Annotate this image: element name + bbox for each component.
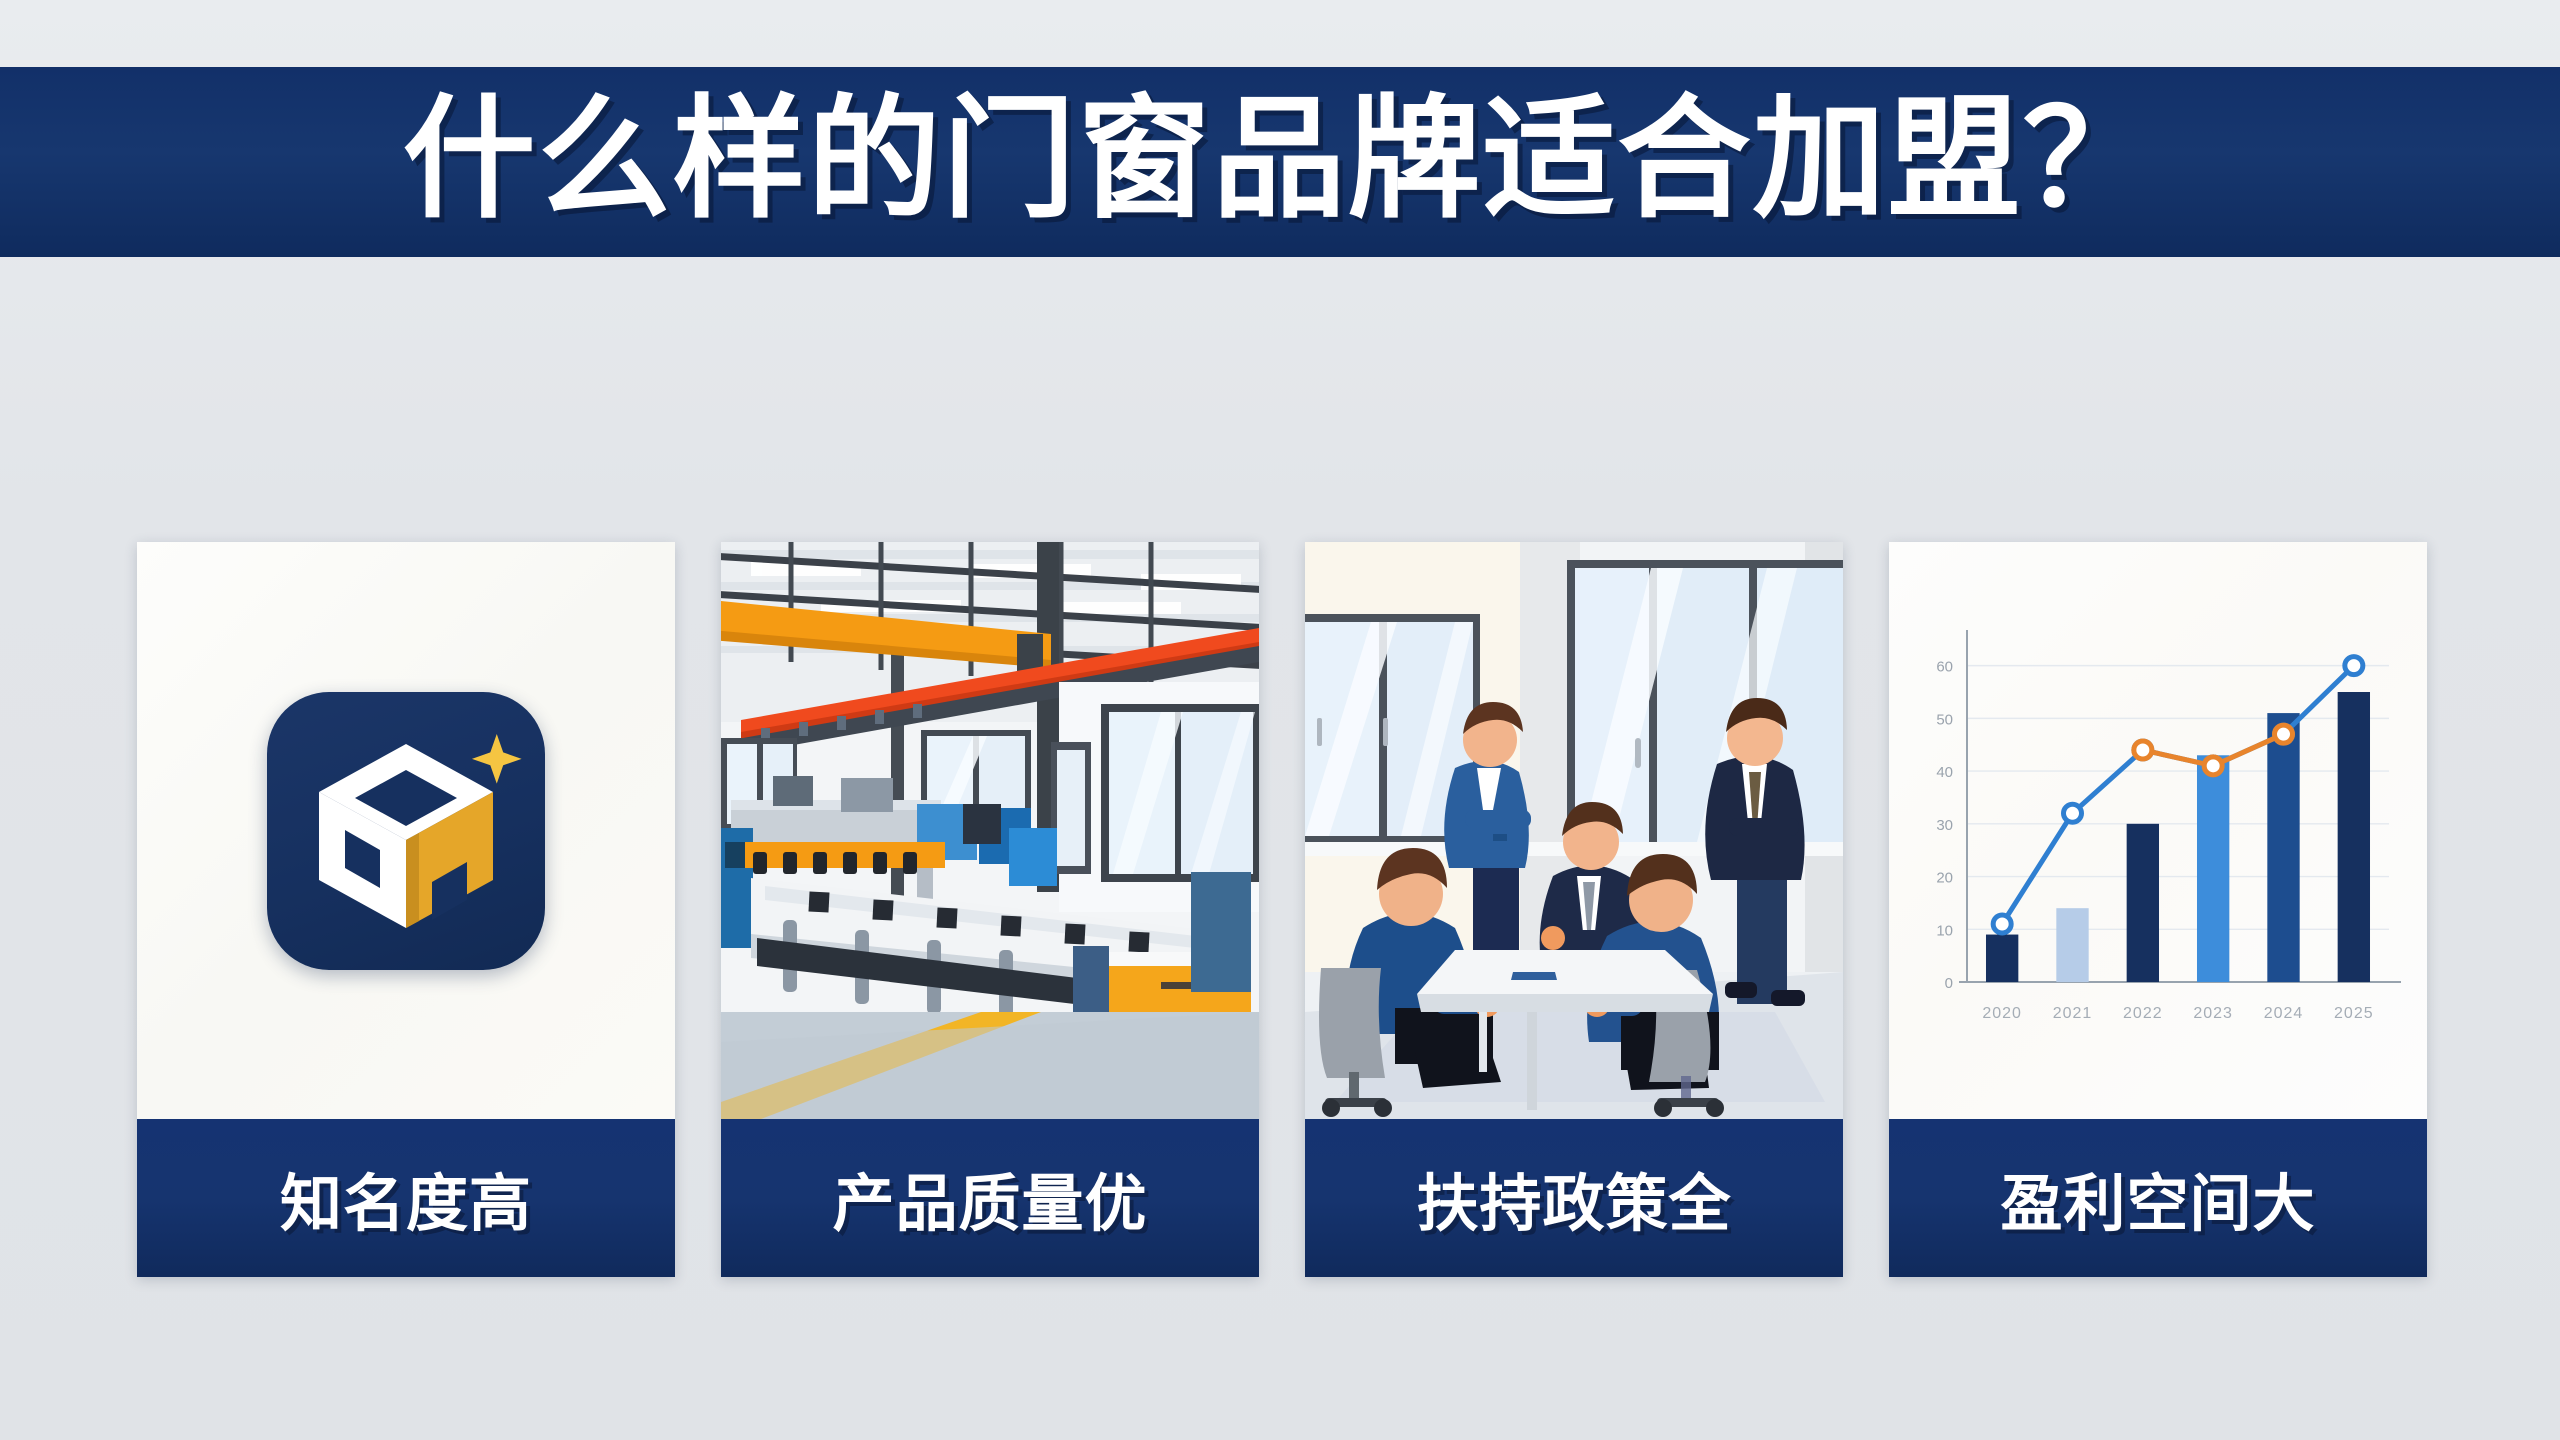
brand-cube-logo-icon bbox=[267, 692, 545, 970]
logo-stage bbox=[137, 542, 675, 1119]
chart-bar bbox=[1986, 935, 2018, 982]
chart-x-tick: 2025 bbox=[2334, 1005, 2374, 1022]
card-media-chart: 0102030405060202020212022202320242025 bbox=[1889, 542, 2427, 1119]
feature-card-row: 知名度高 bbox=[137, 542, 2427, 1277]
chart-marker bbox=[1993, 915, 2011, 933]
chart-bar bbox=[2267, 713, 2299, 982]
chart-marker bbox=[2134, 741, 2152, 759]
poster-root: 什么样的门窗品牌适合加盟？ bbox=[0, 0, 2560, 1440]
chart-bar bbox=[2338, 692, 2370, 982]
chart-x-tick: 2021 bbox=[2053, 1005, 2093, 1022]
chart-y-tick: 40 bbox=[1936, 764, 1953, 781]
card-media-meeting bbox=[1305, 542, 1843, 1119]
growth-chart: 0102030405060202020212022202320242025 bbox=[1889, 542, 2427, 1119]
feature-card-brand-awareness[interactable]: 知名度高 bbox=[137, 542, 675, 1277]
chart-bar bbox=[2197, 755, 2229, 982]
factory-illustration bbox=[721, 542, 1259, 1119]
card-media-brand-logo bbox=[137, 542, 675, 1119]
chart-stage: 0102030405060202020212022202320242025 bbox=[1889, 542, 2427, 1119]
chart-bar bbox=[2127, 824, 2159, 982]
feature-card-product-quality[interactable]: 产品质量优 bbox=[721, 542, 1259, 1277]
chart-y-tick: 50 bbox=[1936, 711, 1953, 728]
business-meeting-illustration bbox=[1305, 542, 1843, 1119]
feature-card-profit-space[interactable]: 0102030405060202020212022202320242025 盈利… bbox=[1889, 542, 2427, 1277]
card-label-profit-space: 盈利空间大 bbox=[1889, 1119, 2427, 1277]
chart-y-tick: 10 bbox=[1936, 922, 1953, 939]
chart-marker bbox=[2204, 757, 2222, 775]
card-label-brand-awareness: 知名度高 bbox=[137, 1119, 675, 1277]
feature-card-support-policy[interactable]: 扶持政策全 bbox=[1305, 542, 1843, 1277]
chart-y-tick: 20 bbox=[1936, 870, 1953, 887]
chart-marker bbox=[2345, 657, 2363, 675]
chart-x-tick: 2022 bbox=[2123, 1005, 2163, 1022]
chart-y-tick: 0 bbox=[1945, 975, 1953, 992]
chart-x-tick: 2024 bbox=[2264, 1005, 2304, 1022]
chart-marker bbox=[2064, 804, 2082, 822]
chart-marker bbox=[2275, 725, 2293, 743]
chart-x-tick: 2020 bbox=[1982, 1005, 2022, 1022]
card-media-factory bbox=[721, 542, 1259, 1119]
chart-bar bbox=[2056, 908, 2088, 982]
page-title: 什么样的门窗品牌适合加盟？ bbox=[403, 94, 2158, 227]
title-banner: 什么样的门窗品牌适合加盟？ bbox=[0, 67, 2560, 257]
chart-x-tick: 2023 bbox=[2193, 1005, 2233, 1022]
chart-y-tick: 60 bbox=[1936, 659, 1953, 676]
chart-y-tick: 30 bbox=[1936, 817, 1953, 834]
card-label-product-quality: 产品质量优 bbox=[721, 1119, 1259, 1277]
card-label-support-policy: 扶持政策全 bbox=[1305, 1119, 1843, 1277]
